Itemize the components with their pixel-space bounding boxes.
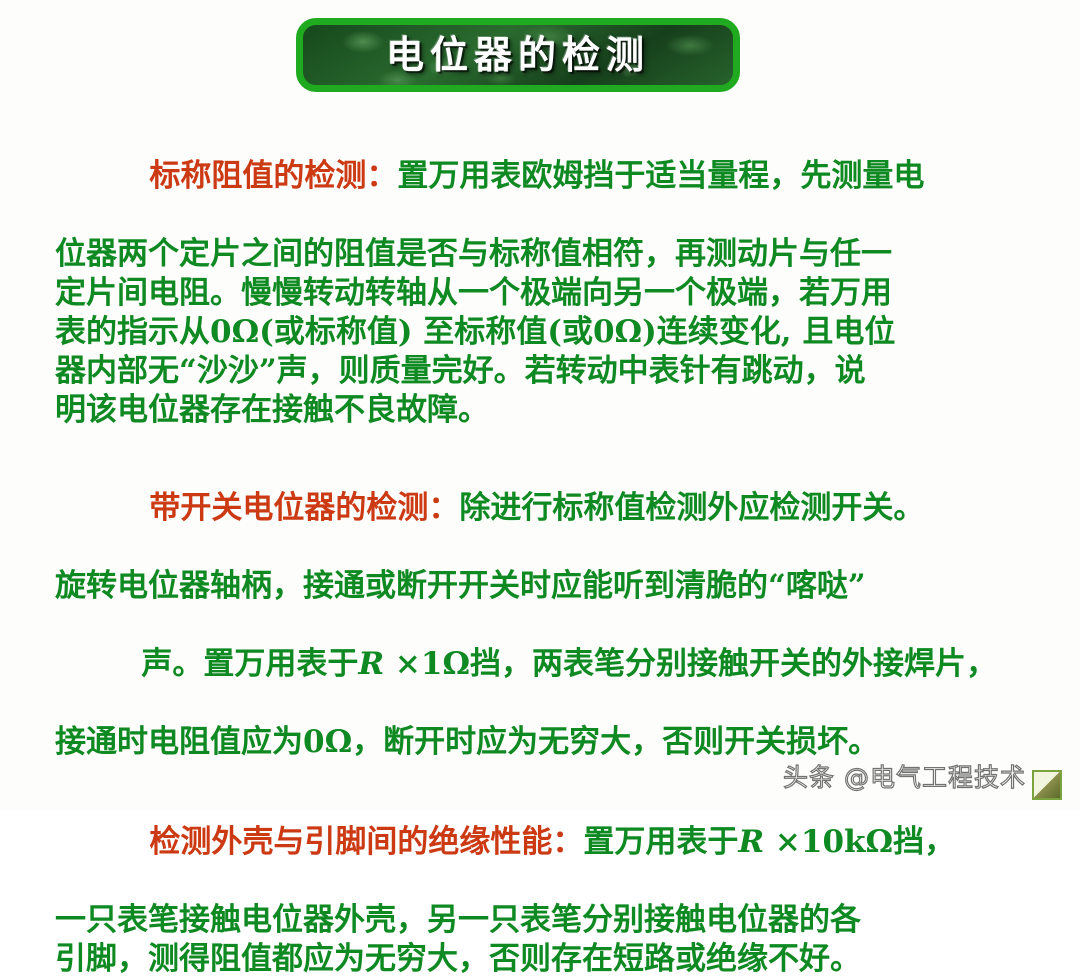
paragraph-nominal-resistance-check: 标称阻值的检测：置万用表欧姆挡于适当量程，先测量电 位器两个定片之间的阻值是否与…	[0, 118, 1080, 430]
paragraph-insulation-check: 检测外壳与引脚间的绝缘性能：置万用表于R ×10kΩ挡， 一只表笔接触电位器外壳…	[0, 784, 1080, 979]
math-variable: R	[358, 646, 384, 682]
paragraph-line: 明该电位器存在接触不良故障。	[55, 391, 1080, 430]
paragraph-line: 旋转电位器轴柄，接通或断开开关时应能听到清脆的“喀哒”	[55, 567, 1080, 606]
page-title: 电位器的检测	[386, 36, 650, 74]
watermark: 头条 @电气工程技术	[783, 765, 1062, 790]
math-line-prefix: 声。置万用表于	[141, 646, 358, 682]
math-line-prefix: 置万用表于	[583, 824, 738, 860]
paragraph-line: 声。置万用表于R ×1Ω挡，两表笔分别接触开关的外接焊片，	[55, 606, 1080, 723]
math-line-suffix: ×1Ω挡，两表笔分别接触开关的外接焊片，	[384, 646, 997, 682]
paragraph-switched-potentiometer-check: 带开关电位器的检测：除进行标称值检测外应检测开关。 旋转电位器轴柄，接通或断开开…	[0, 450, 1080, 762]
paragraph-line: 带开关电位器的检测：除进行标称值检测外应检测开关。	[55, 450, 1080, 567]
watermark-logo-icon	[1032, 770, 1062, 800]
paragraph-heading: 带开关电位器的检测：	[149, 490, 459, 526]
math-line-suffix: ×10kΩ挡，	[764, 824, 955, 860]
math-variable: R	[738, 824, 764, 860]
watermark-text: 头条 @电气工程技术	[783, 765, 1026, 790]
paragraph-heading: 标称阻值的检测：	[149, 158, 397, 194]
paragraph-line-text: 除进行标称值检测外应检测开关。	[459, 490, 924, 526]
slide-content: 标称阻值的检测：置万用表欧姆挡于适当量程，先测量电 位器两个定片之间的阻值是否与…	[0, 118, 1080, 979]
paragraph-line: 表的指示从0Ω(或标称值) 至标称值(或0Ω)连续变化, 且电位	[55, 313, 1080, 352]
paragraph-line: 引脚，测得阻值都应为无穷大，否则存在短路或绝缘不好。	[55, 940, 1080, 979]
paragraph-line: 检测外壳与引脚间的绝缘性能：置万用表于R ×10kΩ挡，	[55, 784, 1080, 901]
paragraph-heading: 检测外壳与引脚间的绝缘性能：	[149, 824, 583, 860]
paragraph-line: 标称阻值的检测：置万用表欧姆挡于适当量程，先测量电	[55, 118, 1080, 235]
title-banner: 电位器的检测	[296, 18, 740, 92]
paragraph-line: 一只表笔接触电位器外壳，另一只表笔分别接触电位器的各	[55, 901, 1080, 940]
paragraph-line: 器内部无“沙沙”声，则质量完好。若转动中表针有跳动，说	[55, 352, 1080, 391]
paragraph-line: 接通时电阻值应为0Ω，断开时应为无穷大，否则开关损坏。	[55, 723, 1080, 762]
paragraph-line: 位器两个定片之间的阻值是否与标称值相符，再测动片与任一	[55, 235, 1080, 274]
paragraph-line: 定片间电阻。慢慢转动转轴从一个极端向另一个极端，若万用	[55, 274, 1080, 313]
slide-root: 电位器的检测 标称阻值的检测：置万用表欧姆挡于适当量程，先测量电 位器两个定片之…	[0, 0, 1080, 810]
paragraph-line-text: 置万用表欧姆挡于适当量程，先测量电	[397, 158, 924, 194]
